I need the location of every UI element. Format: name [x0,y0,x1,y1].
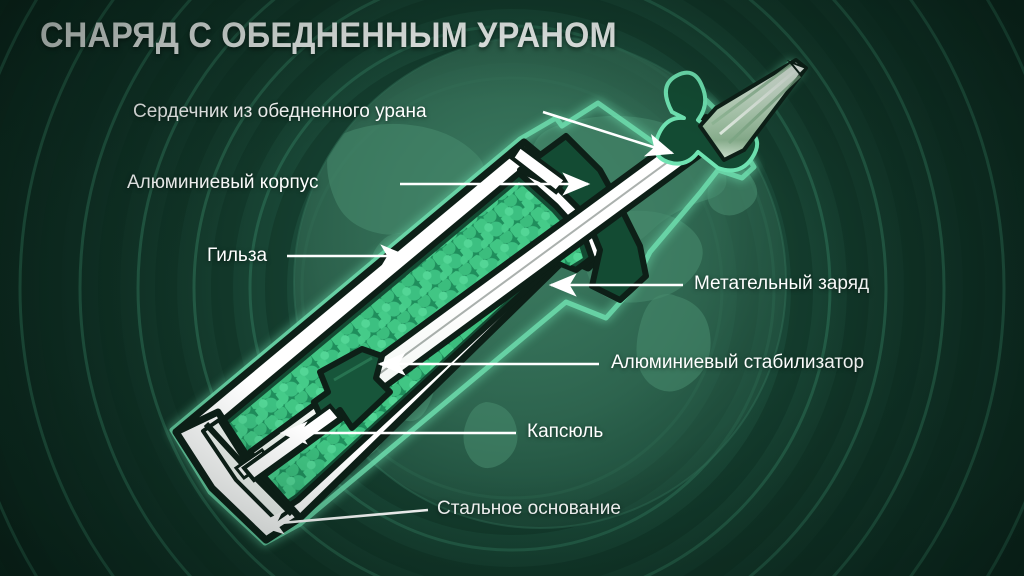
label-steel-base: Стальное основание [437,498,621,520]
label-penetrator: Сердечник из обедненного урана [133,101,427,123]
label-primer: Капсюль [527,421,603,443]
label-cartridge-case: Гильза [207,245,267,267]
infographic-canvas: СНАРЯД С ОБЕДНЕННЫМ УРАНОМ Сердечник из … [0,0,1024,576]
label-aluminium-stabiliser: Алюминиевый стабилизатор [611,352,864,374]
label-propellant: Метательный заряд [694,273,869,295]
shell-cutaway-illustration [0,0,1024,576]
label-aluminium-body: Алюминиевый корпус [127,172,319,194]
page-title: СНАРЯД С ОБЕДНЕННЫМ УРАНОМ [40,16,617,56]
